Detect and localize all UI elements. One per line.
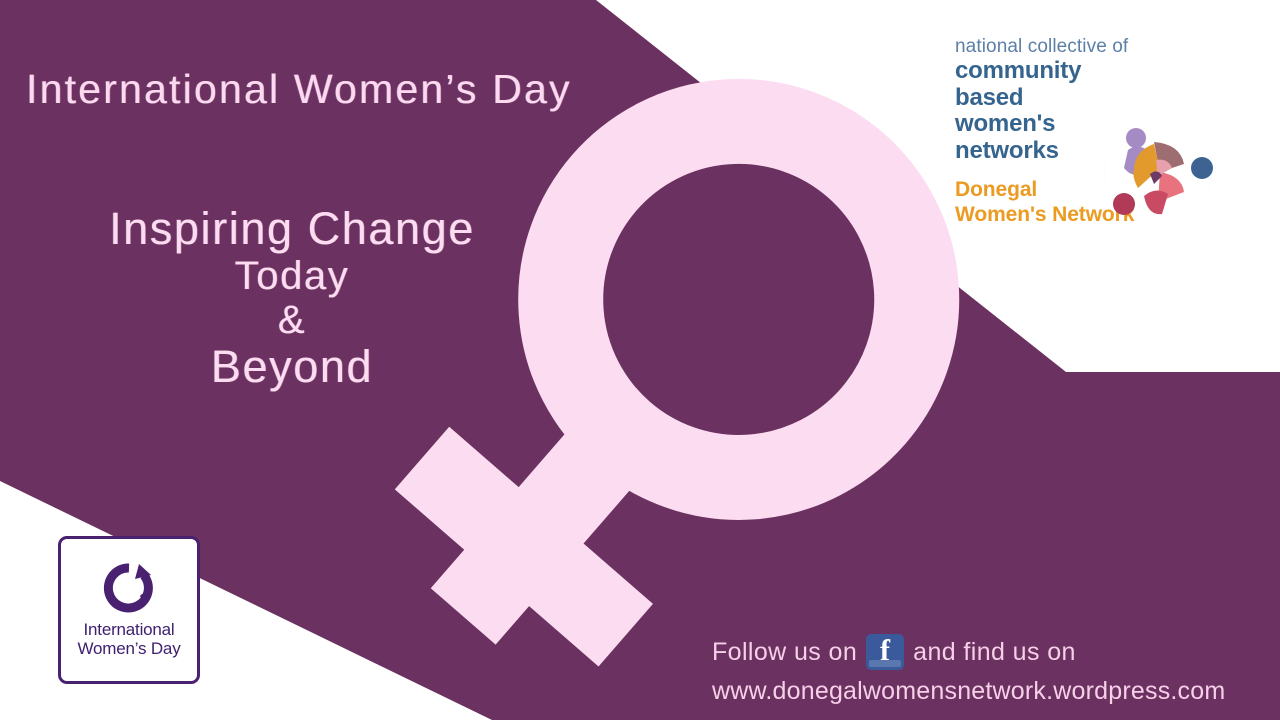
nccwn-line-1: national collective of [955,36,1127,58]
follow-block: Follow us on f and find us on www.donega… [712,634,1225,704]
iwd-badge-text: International Women’s Day [78,620,181,658]
follow-prefix-label: Follow us on [712,640,857,665]
page-title: International Women’s Day [26,66,572,113]
website-url[interactable]: www.donegalwomensnetwork.wordpress.com [712,679,1225,704]
follow-suffix-label: and find us on [913,640,1076,665]
tagline-line-1: Inspiring Change [42,205,542,253]
tagline-line-3: & [42,299,542,341]
iwd-circular-arrow-icon [101,562,157,614]
nccwn-logo: national collective of community based w… [955,36,1225,236]
tagline-line-4: Beyond [42,343,542,391]
tagline-block: Inspiring Change Today & Beyond [42,205,542,391]
follow-row: Follow us on f and find us on [712,634,1225,670]
facebook-icon[interactable]: f [866,634,904,670]
tagline-line-2: Today [42,255,542,297]
nccwn-people-circle-icon [1095,112,1221,232]
iwd-badge-line-1: International [78,620,181,639]
nccwn-line-2: community based [955,58,1127,112]
iwd-badge: International Women’s Day [58,536,200,684]
facebook-icon-bar [869,660,901,667]
iwd-badge-line-2: Women’s Day [78,639,181,658]
poster-canvas: International Women’s Day Inspiring Chan… [0,0,1280,720]
